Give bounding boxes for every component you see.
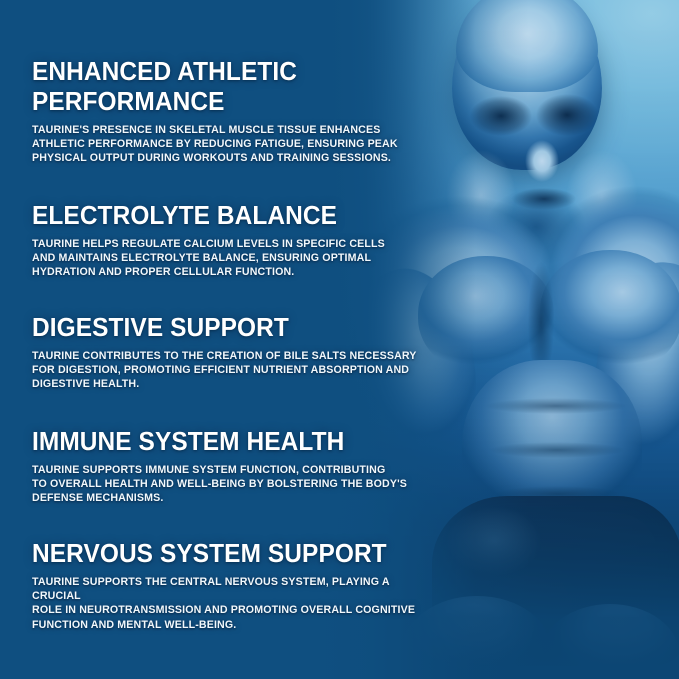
benefit-description: TAURINE SUPPORTS THE CENTRAL NERVOUS SYS… bbox=[32, 575, 441, 632]
benefit-description: TAURINE CONTRIBUTES TO THE CREATION OF B… bbox=[32, 349, 417, 392]
benefit-heading: IMMUNE SYSTEM HEALTH bbox=[32, 426, 403, 456]
benefit-description: TAURINE HELPS REGULATE CALCIUM LEVELS IN… bbox=[32, 237, 385, 280]
benefit-heading: NERVOUS SYSTEM SUPPORT bbox=[32, 538, 436, 568]
benefit-block-digestive-support: DIGESTIVE SUPPORT TAURINE CONTRIBUTES TO… bbox=[32, 312, 437, 392]
benefit-block-enhanced-athletic-performance: ENHANCED ATHLETIC PERFORMANCE TAURINE'S … bbox=[32, 56, 417, 166]
benefit-heading: ELECTROLYTE BALANCE bbox=[32, 200, 381, 230]
benefit-block-electrolyte-balance: ELECTROLYTE BALANCE TAURINE HELPS REGULA… bbox=[32, 200, 403, 280]
taurine-benefits-infographic: ENHANCED ATHLETIC PERFORMANCE TAURINE'S … bbox=[0, 0, 679, 679]
benefit-heading: DIGESTIVE SUPPORT bbox=[32, 312, 412, 342]
benefit-description: TAURINE'S PRESENCE IN SKELETAL MUSCLE TI… bbox=[32, 123, 398, 166]
benefit-block-immune-system-health: IMMUNE SYSTEM HEALTH TAURINE SUPPORTS IM… bbox=[32, 426, 427, 506]
benefit-description: TAURINE SUPPORTS IMMUNE SYSTEM FUNCTION,… bbox=[32, 463, 407, 506]
benefits-list: ENHANCED ATHLETIC PERFORMANCE TAURINE'S … bbox=[0, 0, 679, 679]
benefit-heading: ENHANCED ATHLETIC PERFORMANCE bbox=[32, 56, 394, 116]
benefit-block-nervous-system-support: NERVOUS SYSTEM SUPPORT TAURINE SUPPORTS … bbox=[32, 538, 462, 632]
